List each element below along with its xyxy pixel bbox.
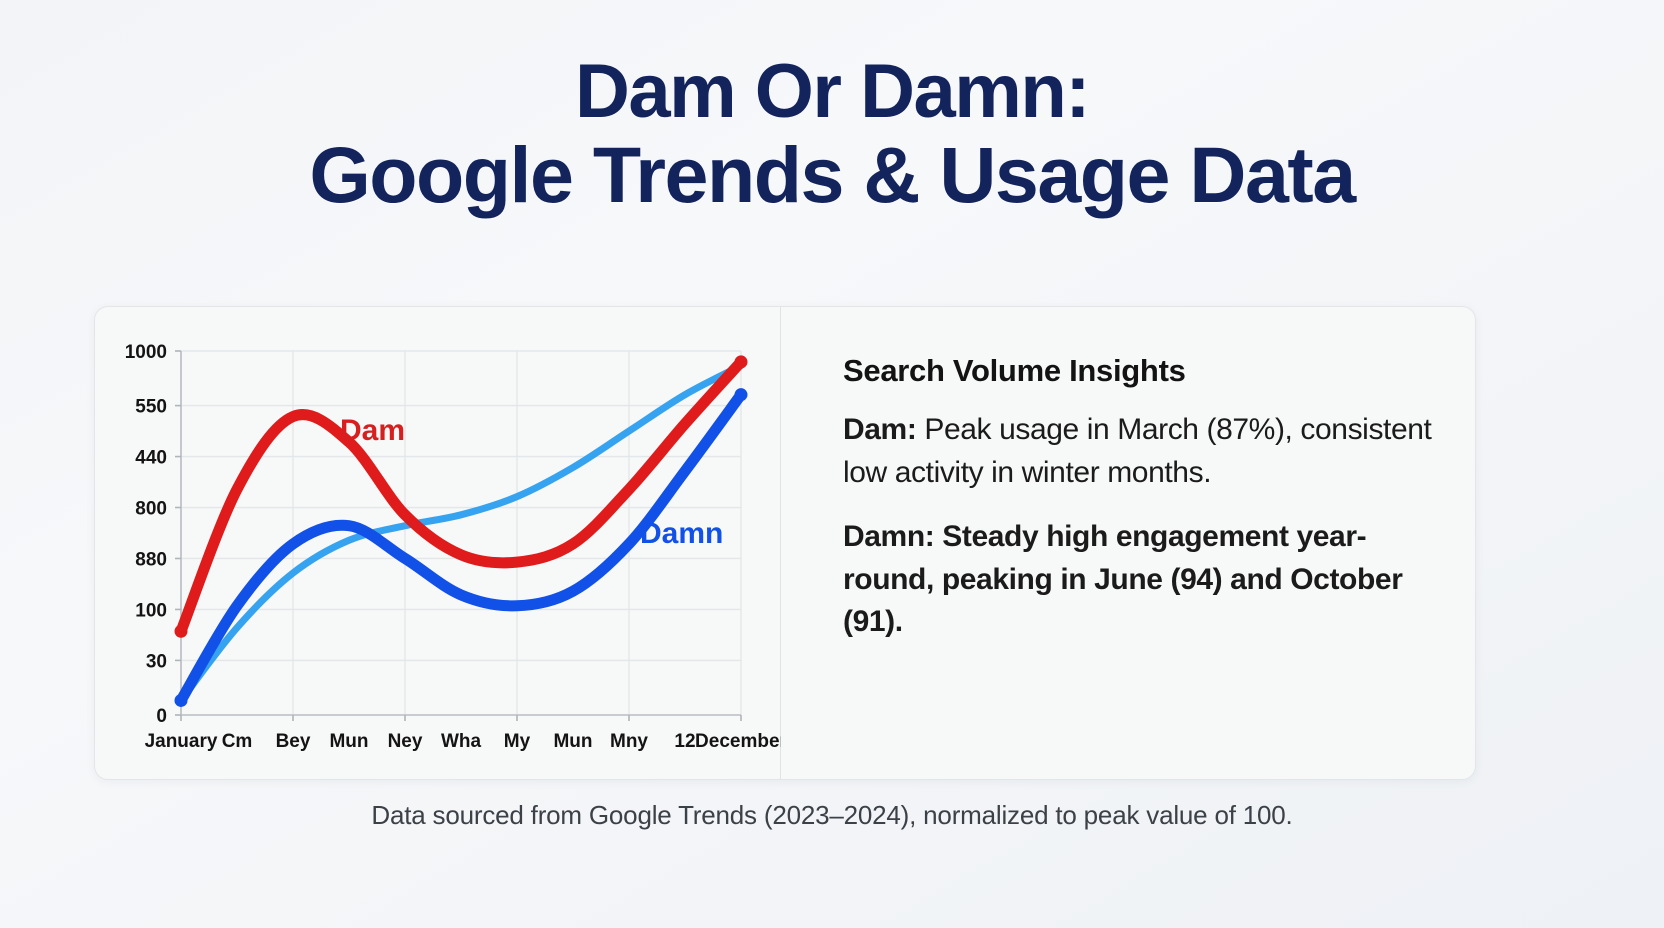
page-title: Dam Or Damn: Google Trends & Usage Data bbox=[0, 0, 1664, 216]
y-axis-tick-label: 30 bbox=[146, 651, 167, 672]
damn-start-point bbox=[175, 694, 188, 707]
y-axis-tick-label: 100 bbox=[135, 600, 167, 621]
x-axis-tick-label: Mun bbox=[329, 731, 368, 752]
x-axis-tick-label: Mny bbox=[610, 731, 648, 752]
title-line-1: Dam Or Damn: bbox=[0, 52, 1664, 133]
chart-pane: 1000550440800880100300 JanuaryCmBeyMunNe… bbox=[95, 307, 781, 779]
y-axis-tick-label: 440 bbox=[135, 448, 167, 469]
y-axis-tick-label: 1000 bbox=[125, 342, 167, 363]
x-axis-tick-label: Wha bbox=[441, 731, 482, 752]
insights-pane: Search Volume Insights Dam: Peak usage i… bbox=[781, 307, 1475, 779]
x-axis-tick-label: My bbox=[504, 731, 531, 752]
x-axis-tick-label: Mun bbox=[553, 731, 592, 752]
insight-term: Dam: bbox=[843, 413, 916, 446]
series-label-damn: Damn bbox=[640, 517, 723, 550]
x-axis-tick-labels: JanuaryCmBeyMunNeyWhaMyMunMny12December bbox=[145, 715, 781, 752]
x-axis-tick-label: December bbox=[695, 731, 781, 752]
insights-heading: Search Volume Insights bbox=[843, 353, 1435, 389]
insight-term: Damn: bbox=[843, 520, 934, 553]
x-axis-tick-label: 12 bbox=[674, 731, 695, 752]
y-axis-tick-label: 880 bbox=[135, 549, 167, 570]
insight-item: Damn: Steady high engagement year-round,… bbox=[843, 516, 1435, 644]
y-axis-tick-label: 550 bbox=[135, 397, 167, 418]
title-line-2: Google Trends & Usage Data bbox=[0, 133, 1664, 217]
x-axis-tick-label: Bey bbox=[276, 731, 311, 752]
source-caption: Data sourced from Google Trends (2023–20… bbox=[0, 800, 1664, 831]
insight-card: 1000550440800880100300 JanuaryCmBeyMunNe… bbox=[94, 306, 1476, 780]
insight-item: Dam: Peak usage in March (87%), consiste… bbox=[843, 409, 1435, 494]
x-axis-tick-label: Cm bbox=[222, 731, 253, 752]
insights-list: Dam: Peak usage in March (87%), consiste… bbox=[843, 409, 1435, 644]
x-axis-tick-label: Ney bbox=[388, 731, 423, 752]
y-axis-tick-label: 800 bbox=[135, 499, 167, 520]
damn-end-point bbox=[735, 388, 748, 401]
insight-body: Peak usage in March (87%), consistent lo… bbox=[843, 413, 1431, 489]
series-label-dam: Dam bbox=[340, 414, 405, 447]
y-axis-tick-labels: 1000550440800880100300 bbox=[125, 342, 181, 727]
y-axis-tick-label: 0 bbox=[156, 706, 167, 727]
x-axis-tick-label: January bbox=[145, 731, 218, 752]
trends-line-chart: 1000550440800880100300 JanuaryCmBeyMunNe… bbox=[95, 307, 781, 781]
dam-end-point bbox=[735, 355, 748, 368]
dam-start-point bbox=[175, 625, 188, 638]
